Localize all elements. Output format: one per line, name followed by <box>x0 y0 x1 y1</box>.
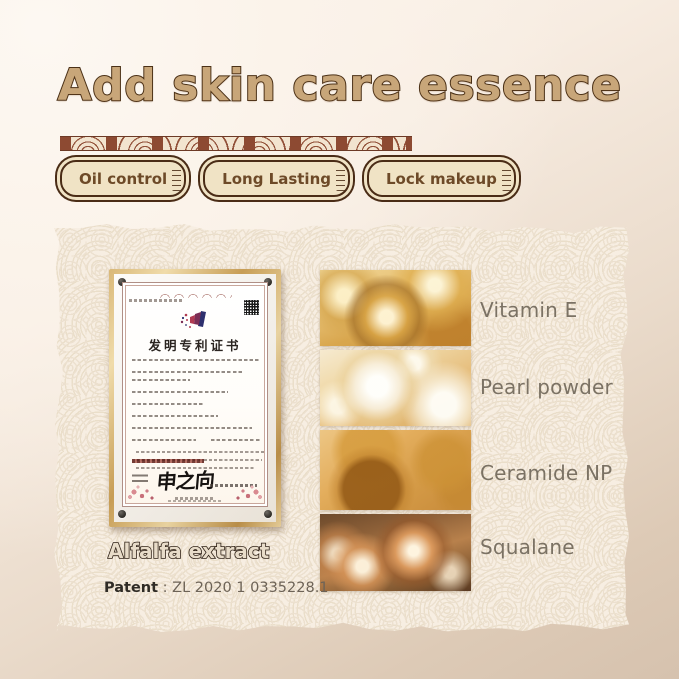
divider-arc-pattern <box>60 137 412 150</box>
tag-hatch-decoration <box>336 166 345 191</box>
patent-label: Patent <box>104 580 158 596</box>
patent-office-emblem-icon <box>175 309 215 331</box>
infographic-canvas: Add skin care essence Oil control Long L… <box>0 0 679 679</box>
amber-oil-droplets-photo <box>320 430 471 510</box>
product-ingredient-title: Alfalfa extract <box>108 539 269 563</box>
divider-end-cap <box>406 137 412 150</box>
golden-oil-bubbles-photo <box>320 270 471 346</box>
feature-tag-row: Oil control Long Lasting Lock makeup <box>60 160 516 197</box>
patent-number-line: Patent : ZL 2020 1 0335228.1 <box>104 580 329 596</box>
tag-label: Lock makeup <box>386 170 497 188</box>
certificate-footer-line <box>168 500 222 503</box>
certificate-document: 发明专利证书 申之向 <box>122 282 268 507</box>
tag-lock-makeup[interactable]: Lock makeup <box>367 160 516 197</box>
tag-label: Oil control <box>79 170 167 188</box>
certificate-header-text <box>129 299 183 302</box>
ornamental-divider <box>60 136 412 151</box>
patent-separator: : <box>158 580 172 596</box>
patent-number: ZL 2020 1 0335228.1 <box>172 580 328 596</box>
patent-certificate[interactable]: 发明专利证书 申之向 <box>109 269 281 527</box>
ingredient-label-pearl-powder: Pearl powder <box>480 375 613 399</box>
bronze-spheres-photo <box>320 514 471 591</box>
frame-screw-icon <box>264 510 272 518</box>
tag-hatch-decoration <box>172 166 181 191</box>
floral-ornament-icon <box>126 472 160 500</box>
ingredient-label-ceramide-np: Ceramide NP <box>480 461 612 485</box>
page-title: Add skin care essence <box>0 60 679 111</box>
floral-ornament-icon <box>230 472 264 500</box>
pearl-droplets-photo <box>320 350 471 426</box>
tag-label: Long Lasting <box>222 170 331 188</box>
qr-code-icon <box>243 299 260 316</box>
frame-screw-icon <box>118 510 126 518</box>
certificate-title: 发明专利证书 <box>123 335 267 354</box>
tag-long-lasting[interactable]: Long Lasting <box>203 160 350 197</box>
certificate-top-ornament <box>158 290 232 298</box>
tag-hatch-decoration <box>502 166 511 191</box>
tag-oil-control[interactable]: Oil control <box>60 160 186 197</box>
ingredient-label-vitamin-e: Vitamin E <box>480 298 577 322</box>
certificate-seal-bar <box>132 459 204 463</box>
ingredient-label-squalane: Squalane <box>480 535 575 559</box>
certificate-signature: 申之向 <box>156 464 216 495</box>
